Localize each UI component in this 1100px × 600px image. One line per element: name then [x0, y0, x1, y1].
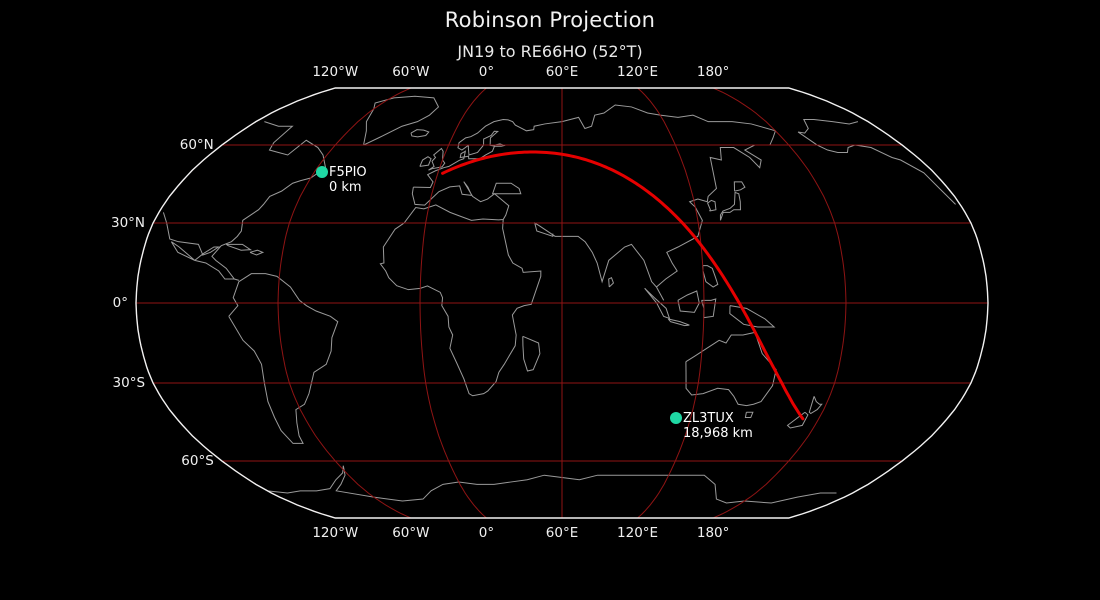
- lon-tick-bottom-1: 0°: [479, 525, 494, 541]
- lon-tick-top-4: 180°: [697, 64, 730, 80]
- station-distance-f5pio: 0 km: [329, 180, 362, 195]
- lat-tick-3: 30°S: [0, 375, 145, 391]
- lon-tick-bottom-4: 180°: [697, 525, 730, 541]
- world-map[interactable]: [0, 0, 1100, 600]
- lon-tick-bottom-5: 120°W: [312, 525, 358, 541]
- lon-tick-top-1: 0°: [479, 64, 494, 80]
- lon-tick-bottom-3: 120°E: [617, 525, 658, 541]
- station-callsign-f5pio: F5PIO: [329, 165, 367, 180]
- lon-tick-top-3: 120°E: [617, 64, 658, 80]
- lon-tick-bottom-0: 60°W: [392, 525, 429, 541]
- lon-tick-top-0: 60°W: [392, 64, 429, 80]
- map-viewer: Robinson Projection JN19 to RE66HO (52°T…: [0, 0, 1100, 600]
- lat-tick-0: 60°N: [0, 137, 214, 153]
- station-marker-zl3tux[interactable]: [670, 412, 682, 424]
- station-marker-f5pio[interactable]: [316, 166, 328, 178]
- lat-tick-2: 0°: [0, 295, 128, 311]
- lon-tick-top-5: 120°W: [312, 64, 358, 80]
- lat-tick-1: 30°N: [0, 215, 145, 231]
- lon-tick-bottom-2: 60°E: [546, 525, 578, 541]
- lon-tick-top-2: 60°E: [546, 64, 578, 80]
- station-callsign-zl3tux: ZL3TUX: [683, 411, 734, 426]
- lat-tick-4: 60°S: [0, 453, 214, 469]
- station-distance-zl3tux: 18,968 km: [683, 426, 753, 441]
- map-background: [0, 0, 1100, 600]
